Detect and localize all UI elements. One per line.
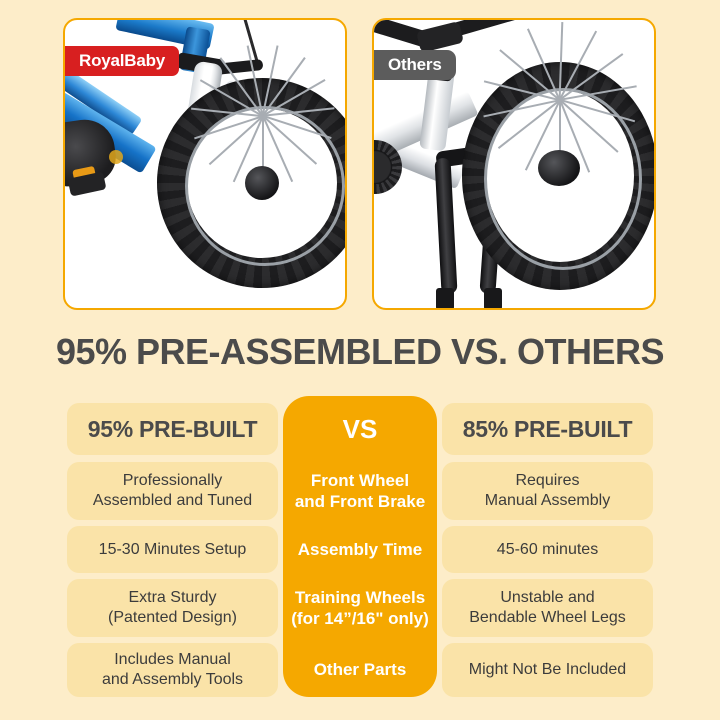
row-1-left-cell: Professionally Assembled and Tuned	[67, 462, 278, 520]
row-2-left-cell: 15-30 Minutes Setup	[67, 526, 278, 573]
row-3-middle-cell: Training Wheels (for 14”/16" only)	[283, 579, 437, 637]
row-2-right-cell: 45-60 minutes	[442, 526, 653, 573]
header-cell-right: 85% PRE-BUILT	[442, 403, 653, 455]
wheel-hub	[245, 166, 279, 200]
row-4-left-line2: and Assembly Tools	[102, 671, 243, 688]
dropout-back	[484, 288, 502, 310]
row-4-right-line1: Might Not Be Included	[469, 661, 626, 678]
row-4-mid-line1: Other Parts	[314, 660, 407, 679]
row-3-right-line1: Unstable and	[500, 589, 594, 606]
row-4-right-cell: Might Not Be Included	[442, 643, 653, 697]
header-cell-vs: VS	[283, 403, 437, 455]
badge-others: Others	[372, 50, 456, 80]
stem	[416, 21, 464, 53]
row-4-left-cell: Includes Manual and Assembly Tools	[67, 643, 278, 697]
row-3-left-line1: Extra Sturdy	[128, 589, 216, 606]
row-1-right-line2: Manual Assembly	[485, 492, 610, 509]
row-2-right-line1: 45-60 minutes	[497, 541, 598, 558]
row-1-mid-line1: Front Wheel	[311, 471, 409, 490]
comparison-table: 95% PRE-BUILT VS 85% PRE-BUILT Professio…	[67, 396, 653, 698]
row-3-right-line2: Bendable Wheel Legs	[469, 609, 626, 626]
row-3-mid-line2: (for 14”/16" only)	[291, 609, 428, 628]
row-2-middle-cell: Assembly Time	[283, 526, 437, 573]
table-row: Professionally Assembled and Tuned Front…	[67, 462, 653, 520]
row-4-left-line1: Includes Manual	[114, 651, 231, 668]
row-4-middle-cell: Other Parts	[283, 643, 437, 697]
panel-royalbaby[interactable]: RoyalBaby	[63, 18, 347, 310]
row-1-middle-cell: Front Wheel and Front Brake	[283, 462, 437, 520]
row-1-left-line2: Assembled and Tuned	[93, 492, 252, 509]
row-2-mid-line1: Assembly Time	[298, 540, 422, 559]
row-1-right-cell: Requires Manual Assembly	[442, 462, 653, 520]
wheel-hub-others	[538, 150, 580, 186]
dropout-front	[436, 288, 454, 310]
row-2-left-line1: 15-30 Minutes Setup	[99, 541, 247, 558]
row-1-left-line1: Professionally	[123, 472, 223, 489]
row-3-left-line2: (Patented Design)	[108, 609, 237, 626]
steerer-tube	[419, 69, 455, 152]
panel-others[interactable]: Others	[372, 18, 656, 310]
table-row: 15-30 Minutes Setup Assembly Time 45-60 …	[67, 526, 653, 573]
row-3-mid-line1: Training Wheels	[295, 588, 425, 607]
row-3-right-cell: Unstable and Bendable Wheel Legs	[442, 579, 653, 637]
row-1-mid-line2: and Front Brake	[295, 492, 425, 511]
product-image-panels: RoyalBaby	[63, 18, 657, 310]
page-title: 95% PRE-ASSEMBLED VS. OTHERS	[0, 331, 720, 373]
frame-decal	[109, 150, 123, 164]
badge-royalbaby: RoyalBaby	[63, 46, 179, 76]
row-1-right-line1: Requires	[515, 472, 579, 489]
row-3-left-cell: Extra Sturdy (Patented Design)	[67, 579, 278, 637]
table-row: Extra Sturdy (Patented Design) Training …	[67, 579, 653, 637]
table-header-row: 95% PRE-BUILT VS 85% PRE-BUILT	[67, 403, 653, 455]
header-cell-left: 95% PRE-BUILT	[67, 403, 278, 455]
table-row: Includes Manual and Assembly Tools Other…	[67, 643, 653, 697]
